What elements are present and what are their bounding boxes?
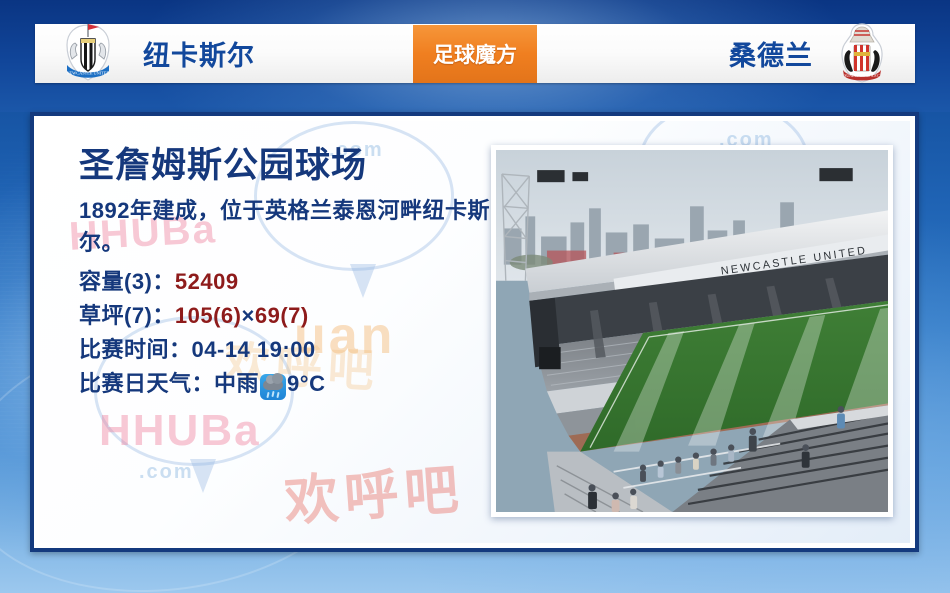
weather-row: 比赛日天气：中雨9°C (79, 367, 499, 401)
match-header-bar: NEWCASTLE UNITED 纽卡斯尔 足球魔方 桑德兰 SUNDERLAN… (35, 24, 915, 83)
capacity-label: 容量(3)： (79, 265, 175, 299)
home-team-block[interactable]: NEWCASTLE UNITED 纽卡斯尔 (35, 24, 413, 83)
stadium-info-card-inner: HHUBa uan HHUBa .com .com .com 欢呼吧 欢呼吧 圣… (39, 121, 910, 543)
stadium-title: 圣詹姆斯公园球场 (79, 146, 499, 185)
match-time-label: 比赛时间： (79, 333, 192, 367)
watermark-domain: .com (139, 461, 194, 484)
away-team-name: 桑德兰 (729, 34, 813, 73)
site-logo[interactable]: 足球魔方 (413, 25, 537, 83)
watermark-brand-cn: 欢呼吧 (281, 445, 466, 536)
weather-condition: 中雨 (214, 367, 259, 401)
pitch-width-value: 69(7) (255, 299, 309, 333)
moderate-rain-icon (260, 374, 286, 400)
home-team-name: 纽卡斯尔 (143, 34, 255, 73)
svg-text:SUNDERLAND A.F.C: SUNDERLAND A.F.C (844, 74, 880, 78)
stadium-info-card: HHUBa uan HHUBa .com .com .com 欢呼吧 欢呼吧 圣… (30, 112, 919, 552)
weather-temperature: 9°C (287, 367, 325, 401)
pitch-length-value: 105(6) (175, 299, 242, 333)
pitch-separator: × (241, 299, 254, 333)
newcastle-united-crest-icon: NEWCASTLE UNITED (55, 19, 121, 85)
capacity-row: 容量(3)：52409 (79, 265, 499, 299)
stadium-photo: NEWCASTLE UNITED (496, 150, 888, 512)
sunderland-afc-crest-icon: SUNDERLAND A.F.C (829, 20, 895, 86)
capacity-value: 52409 (175, 265, 239, 299)
stadium-description: 1892年建成，位于英格兰泰恩河畔纽卡斯尔。 (79, 195, 499, 259)
stadium-info-column: 圣詹姆斯公园球场 1892年建成，位于英格兰泰恩河畔纽卡斯尔。 容量(3)：52… (79, 146, 499, 401)
svg-text:NEWCASTLE UNITED: NEWCASTLE UNITED (66, 71, 109, 76)
watermark-brand-latin-2: HHUBa (99, 406, 261, 456)
away-team-block[interactable]: 桑德兰 SUNDERLAND A.F.C (537, 24, 915, 83)
stadium-photo-frame[interactable]: NEWCASTLE UNITED (491, 145, 893, 517)
weather-label: 比赛日天气： (79, 367, 214, 401)
pitch-label: 草坪(7)： (79, 299, 175, 333)
pitch-row: 草坪(7)：105(6)×69(7) (79, 299, 499, 333)
stadium-photo-illustration: NEWCASTLE UNITED (496, 150, 888, 512)
match-time-row: 比赛时间：04-14 19:00 (79, 333, 499, 367)
match-time-value: 04-14 19:00 (192, 333, 316, 367)
